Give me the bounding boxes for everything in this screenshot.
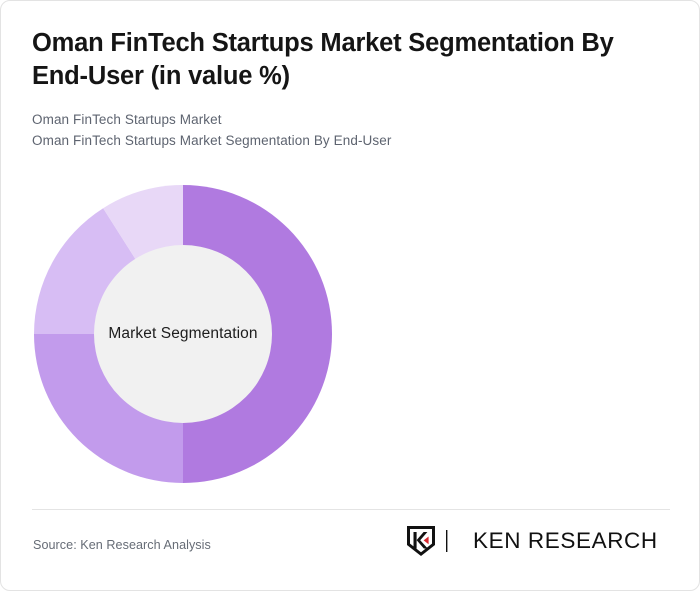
donut-hole: [94, 245, 272, 423]
footer-divider: [32, 509, 670, 510]
ken-research-shield-icon: [406, 525, 436, 557]
donut-svg: [34, 185, 332, 483]
source-note: Source: Ken Research Analysis: [33, 538, 211, 552]
brand-separator-icon: [443, 526, 473, 556]
donut-chart: Market Segmentation: [34, 185, 332, 483]
chart-card: Oman FinTech Startups Market Segmentatio…: [0, 0, 700, 591]
subtitle-segmentation: Oman FinTech Startups Market Segmentatio…: [32, 131, 672, 152]
brand-logo: KEN RESEARCH: [406, 525, 669, 557]
page-title: Oman FinTech Startups Market Segmentatio…: [32, 27, 672, 92]
chart-plot-area: Market Segmentation: [1, 171, 700, 501]
subtitle-group: Oman FinTech Startups Market Oman FinTec…: [32, 110, 672, 152]
chart-header: Oman FinTech Startups Market Segmentatio…: [32, 27, 672, 152]
brand-wordmark: KEN RESEARCH: [473, 528, 669, 554]
subtitle-market: Oman FinTech Startups Market: [32, 110, 672, 131]
svg-text:KEN RESEARCH: KEN RESEARCH: [473, 528, 658, 553]
